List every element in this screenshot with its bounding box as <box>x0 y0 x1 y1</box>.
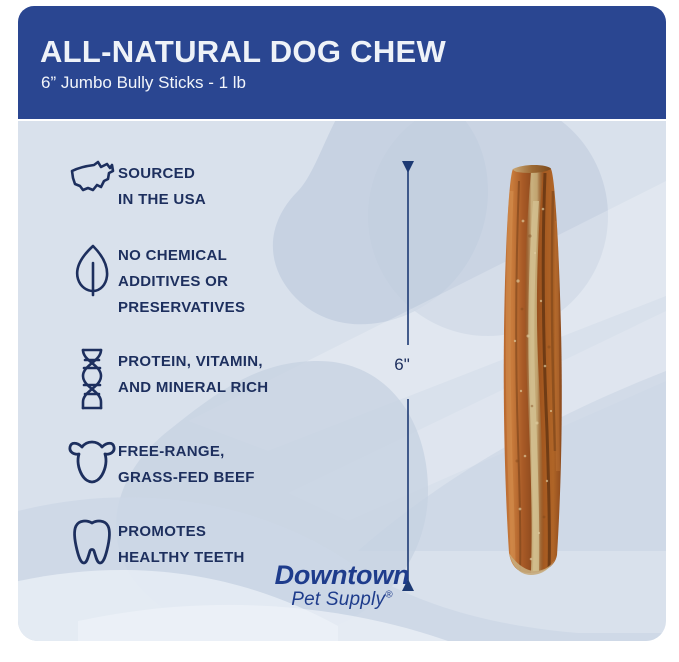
feature-item-no-chemicals: NO CHEMICAL ADDITIVES OR PRESERVATIVES <box>66 241 245 321</box>
feature-label: PROTEIN, VITAMIN, AND MINERAL RICH <box>118 347 268 401</box>
feature-label: SOURCED IN THE USA <box>118 159 206 213</box>
dimension-indicator: 6" <box>380 159 440 593</box>
dimension-label: 6" <box>380 355 424 375</box>
bully-stick-photo <box>473 161 603 581</box>
usa-map-icon <box>66 159 118 199</box>
leaf-icon <box>66 241 118 299</box>
page-subtitle: 6” Jumbo Bully Sticks - 1 lb <box>41 74 246 91</box>
brand-tagline: Pet Supply <box>291 589 385 610</box>
feature-item-protein-rich: PROTEIN, VITAMIN, AND MINERAL RICH <box>66 347 268 411</box>
cow-head-icon <box>66 437 118 485</box>
registered-trademark-icon: ® <box>385 590 393 601</box>
tooth-icon <box>66 517 118 567</box>
product-infographic: ALL-NATURAL DOG CHEW 6” Jumbo Bully Stic… <box>0 0 679 662</box>
brand-name-primary: Downtown <box>18 561 666 589</box>
feature-item-grass-fed-beef: FREE-RANGE, GRASS-FED BEEF <box>66 437 255 491</box>
page-title: ALL-NATURAL DOG CHEW <box>40 36 446 67</box>
feature-item-sourced-in-usa: SOURCED IN THE USA <box>66 159 206 213</box>
feature-label: FREE-RANGE, GRASS-FED BEEF <box>118 437 255 491</box>
dimension-arrow <box>380 159 440 593</box>
body-panel: SOURCED IN THE USA NO CHEMICAL ADDITIVES… <box>18 121 666 641</box>
header-banner: ALL-NATURAL DOG CHEW 6” Jumbo Bully Stic… <box>18 6 666 119</box>
brand-name-secondary: Pet Supply® <box>18 589 666 612</box>
dna-helix-icon <box>66 347 118 411</box>
feature-label: NO CHEMICAL ADDITIVES OR PRESERVATIVES <box>118 241 245 321</box>
brand-logo: Downtown Pet Supply® <box>18 561 666 612</box>
